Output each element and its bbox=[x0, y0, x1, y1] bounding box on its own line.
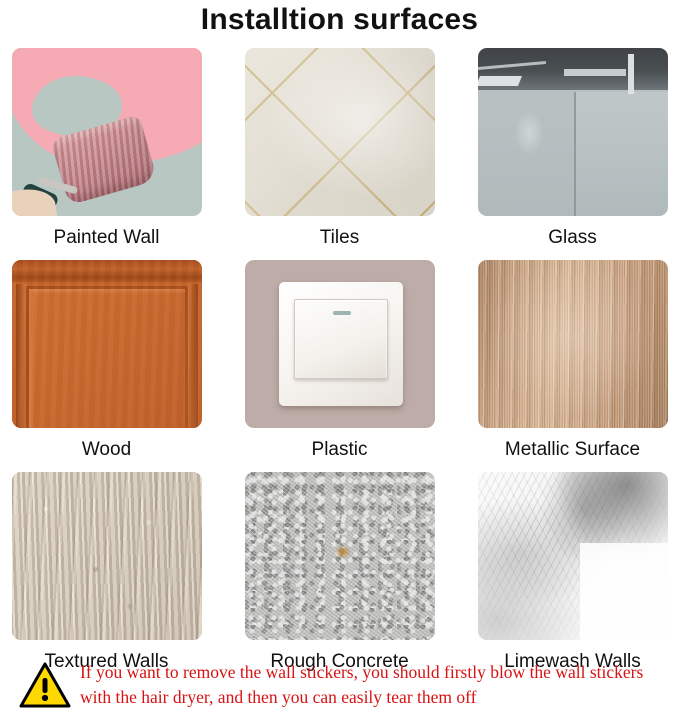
glass-smudge bbox=[514, 110, 544, 156]
textured-wall-thumbnail bbox=[12, 472, 202, 640]
surfaces-grid: Painted Wall Tiles bbox=[0, 48, 679, 676]
page-title: Installtion surfaces bbox=[0, 0, 679, 44]
limewash-wall-thumbnail bbox=[478, 472, 668, 640]
surfaces-row-1: Painted Wall Tiles bbox=[0, 48, 679, 252]
row-divider bbox=[0, 252, 679, 260]
row-divider bbox=[0, 464, 679, 472]
rough-concrete-thumbnail bbox=[245, 472, 435, 640]
ceiling-detail-3 bbox=[478, 76, 522, 86]
surface-label-metallic-surface: Metallic Surface bbox=[472, 428, 673, 464]
surface-label-glass: Glass bbox=[472, 216, 673, 252]
hand bbox=[12, 185, 58, 216]
surfaces-row-2: Wood Plastic Metallic bbox=[0, 260, 679, 464]
surface-cell-metallic-surface: Metallic Surface bbox=[472, 260, 673, 464]
surface-label-wood: Wood bbox=[6, 428, 207, 464]
glass-thumbnail bbox=[478, 48, 668, 216]
switch-faceplate bbox=[279, 282, 403, 406]
switch-rocker bbox=[294, 299, 388, 379]
surface-label-painted-wall: Painted Wall bbox=[6, 216, 207, 252]
concrete-rust-spot bbox=[336, 546, 350, 558]
surface-cell-limewash-walls: Limewash Walls bbox=[472, 472, 673, 676]
surface-cell-rough-concrete: Rough Concrete bbox=[239, 472, 440, 676]
tile-sheen bbox=[245, 48, 435, 216]
ceiling-detail-2 bbox=[564, 69, 626, 76]
wood-grain-texture bbox=[12, 260, 202, 428]
surface-cell-textured-walls: Textured Walls bbox=[6, 472, 207, 676]
glass-pane-seam bbox=[574, 92, 576, 216]
warning-triangle-icon bbox=[14, 661, 76, 709]
tiles-thumbnail bbox=[245, 48, 435, 216]
surface-cell-plastic: Plastic bbox=[239, 260, 440, 464]
surfaces-row-3: Textured Walls Rough Concrete Limewash W… bbox=[0, 472, 679, 676]
vertical-post bbox=[628, 54, 634, 94]
glass-pane-right bbox=[576, 92, 668, 216]
surface-cell-glass: Glass bbox=[472, 48, 673, 252]
stucco-speckles bbox=[12, 472, 202, 640]
switch-indicator bbox=[333, 311, 351, 315]
limewash-clear-area bbox=[580, 543, 667, 640]
plastic-switch-thumbnail bbox=[245, 260, 435, 428]
wood-thumbnail bbox=[12, 260, 202, 428]
removal-warning-note: If you want to remove the wall stickers,… bbox=[0, 652, 679, 718]
surface-cell-painted-wall: Painted Wall bbox=[6, 48, 207, 252]
surface-label-tiles: Tiles bbox=[239, 216, 440, 252]
surface-cell-wood: Wood bbox=[6, 260, 207, 464]
surface-label-plastic: Plastic bbox=[239, 428, 440, 464]
installation-surfaces-infographic: Installtion surfaces Painted Wall bbox=[0, 0, 679, 718]
painted-wall-thumbnail bbox=[12, 48, 202, 216]
metallic-surface-thumbnail bbox=[478, 260, 668, 428]
removal-warning-text: If you want to remove the wall stickers,… bbox=[76, 660, 679, 710]
metal-highlight bbox=[478, 260, 668, 428]
surface-cell-tiles: Tiles bbox=[239, 48, 440, 252]
